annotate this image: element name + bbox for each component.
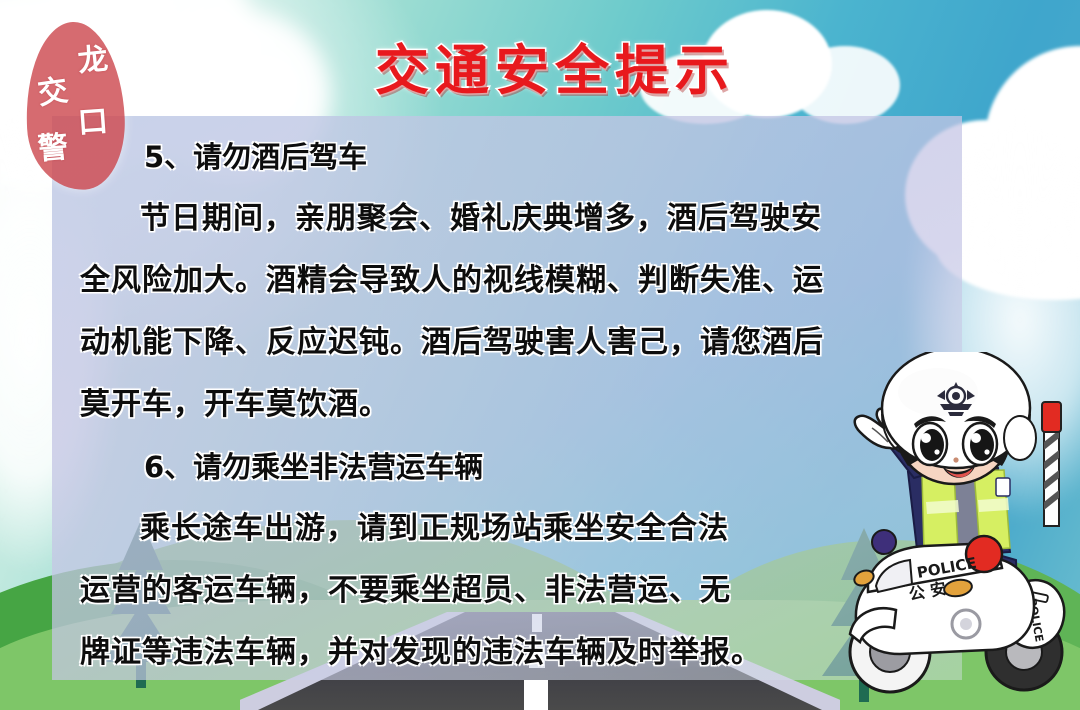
- traffic-police-mascot: POLICE POLICE 公 安: [838, 352, 1080, 710]
- police-motorcycle-icon: POLICE POLICE 公 安: [850, 530, 1070, 692]
- section-5-line-3: 动机能下降、反应迟钝。酒后驾驶害人害己，请您酒后: [62, 312, 952, 374]
- road-center-dash: [524, 680, 548, 710]
- eye-right: [963, 423, 997, 465]
- poster-body-text: 5、请勿酒后驾车 节日期间，亲朋聚会、婚礼庆典增多，酒后驾驶安 全风险加大。酒精…: [62, 126, 952, 684]
- section-5-line-4: 莫开车，开车莫饮酒。: [62, 374, 952, 436]
- section-6-line-3: 牌证等违法车辆，并对发现的违法车辆及时举报。: [62, 622, 952, 684]
- section-5-line-1: 节日期间，亲朋聚会、婚礼庆典增多，酒后驾驶安: [62, 188, 952, 250]
- traffic-safety-poster: 龙 口 交 警 交通安全提示 5、请勿酒后驾车 节日期间，亲朋聚会、婚礼庆典增多…: [0, 0, 1080, 710]
- section-6-line-2: 运营的客运车辆，不要乘坐超员、非法营运、无: [62, 560, 952, 622]
- section-5-line-2: 全风险加大。酒精会导致人的视线模糊、判断失准、运: [62, 250, 952, 312]
- police-helmet-icon: [882, 352, 1036, 468]
- section-5-heading: 5、请勿酒后驾车: [62, 126, 952, 188]
- eye-left: [913, 423, 947, 465]
- poster-title: 交通安全提示: [0, 26, 1080, 105]
- section-6-heading: 6、请勿乘坐非法营运车辆: [62, 436, 952, 498]
- section-6-line-1: 乘长途车出游，请到正规场站乘坐安全合法: [62, 498, 952, 560]
- poster-title-text: 交通安全提示: [345, 26, 735, 105]
- traffic-baton-icon: [1042, 402, 1061, 526]
